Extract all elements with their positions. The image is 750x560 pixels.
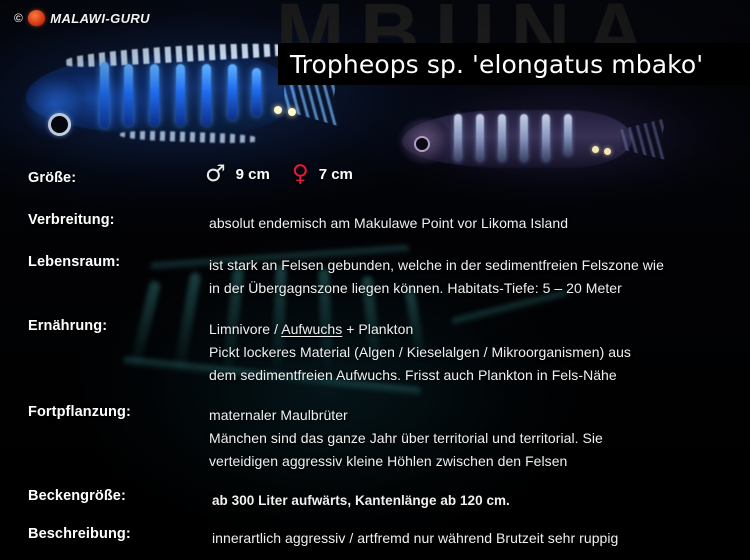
- row-label-fortpflanzung: Fortpflanzung:: [28, 404, 131, 420]
- row-label-verbreitung: Verbreitung:: [28, 212, 115, 228]
- row-label-beschreibung: Beschreibung:: [28, 526, 131, 542]
- row-label-groesse: Größe:: [28, 170, 76, 186]
- size-values: ♂ 9 cm ♀ 7 cm: [205, 163, 375, 186]
- species-attributes-table: Größe: ♂ 9 cm ♀ 7 cm Verbreitung: absolu…: [0, 0, 750, 560]
- row-value-ernaehrung-line2: Pickt lockeres Material (Algen / Kiesela…: [209, 341, 631, 364]
- row-label-ernaehrung: Ernährung:: [28, 318, 107, 334]
- row-label-lebensraum: Lebensraum:: [28, 254, 120, 270]
- male-size-value: 9 cm: [236, 166, 270, 183]
- ernaehrung-prefix: Limnivore /: [209, 321, 281, 337]
- row-label-beckengroesse: Beckengröße:: [28, 488, 126, 504]
- row-value-beschreibung-line1: innerartlich aggressiv / artfremd nur wä…: [212, 527, 618, 550]
- species-info-poster: MBUNA: [0, 0, 750, 560]
- row-value-ernaehrung-line3: dem sedimentfreien Aufwuchs. Frisst auch…: [209, 364, 617, 387]
- row-value-fortpflanzung-line2: Mänchen sind das ganze Jahr über territo…: [209, 427, 603, 450]
- female-symbol-icon: ♀: [292, 163, 309, 186]
- row-value-beckengroesse-line1: ab 300 Liter aufwärts, Kantenlänge ab 12…: [212, 489, 510, 512]
- row-value-lebensraum-line2: in der Übergagnszone liegen können. Habi…: [209, 277, 622, 300]
- male-symbol-icon: ♂: [205, 163, 226, 186]
- ernaehrung-suffix: + Plankton: [342, 321, 413, 337]
- row-value-lebensraum-line1: ist stark an Felsen gebunden, welche in …: [209, 254, 664, 277]
- row-value-fortpflanzung-line1: maternaler Maulbrüter: [209, 404, 348, 427]
- row-value-ernaehrung-line1: Limnivore / Aufwuchs + Plankton: [209, 318, 413, 341]
- female-size-value: 7 cm: [319, 166, 353, 183]
- row-value-fortpflanzung-line3: verteidigen aggressiv kleine Höhlen zwis…: [209, 450, 567, 473]
- row-value-verbreitung-line1: absolut endemisch am Makulawe Point vor …: [209, 212, 568, 235]
- ernaehrung-underlined-word: Aufwuchs: [281, 321, 342, 337]
